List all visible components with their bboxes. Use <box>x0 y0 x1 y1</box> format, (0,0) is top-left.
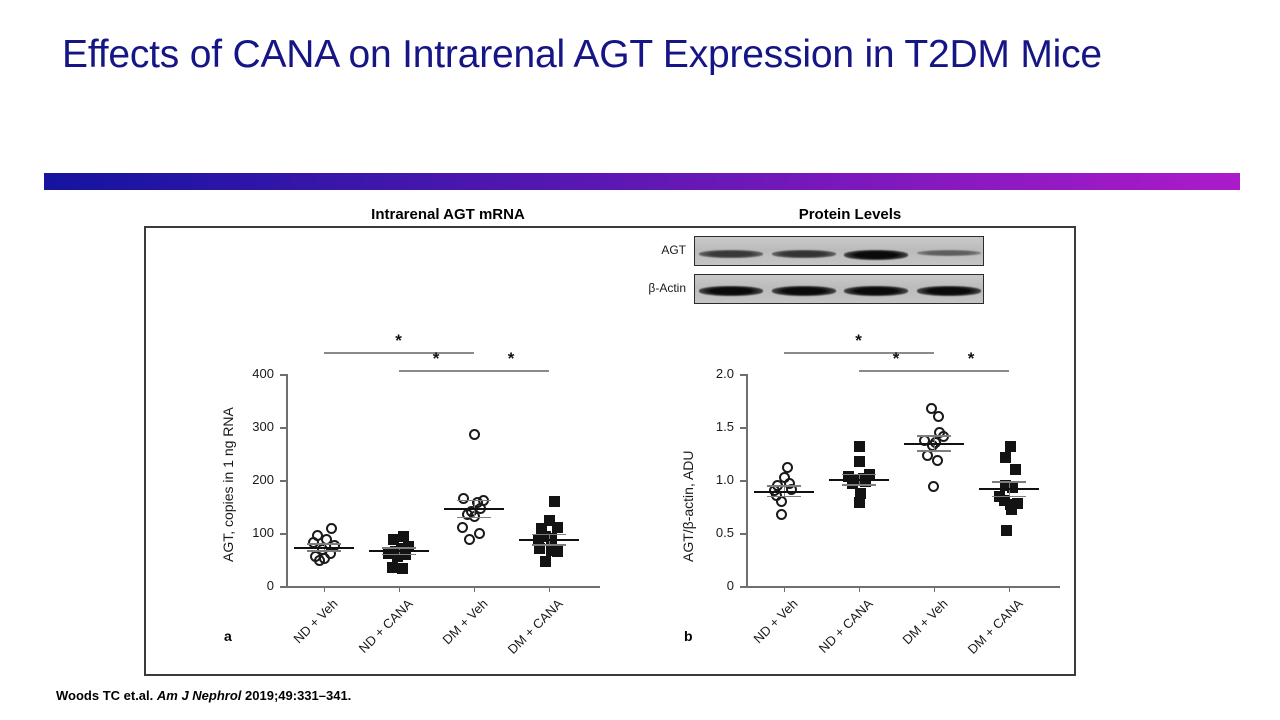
data-point <box>326 523 337 534</box>
data-point <box>314 555 325 566</box>
blot-band <box>699 250 763 258</box>
blot-row-beta-actin <box>694 274 984 304</box>
blot-label-agt: AGT <box>622 243 686 257</box>
accent-gradient-bar <box>44 173 1240 190</box>
x-axis-tick <box>1009 586 1011 592</box>
error-bar-cap <box>532 534 566 536</box>
y-axis-tick <box>280 586 286 588</box>
y-axis-tick <box>740 586 746 588</box>
data-point <box>464 534 475 545</box>
x-axis-tick-label: ND + CANA <box>801 596 875 670</box>
y-axis-tick <box>280 374 286 376</box>
mean-line <box>979 488 1039 490</box>
error-bar-cap <box>307 543 341 545</box>
blot-lane <box>768 237 841 265</box>
data-point <box>1001 525 1012 536</box>
blot-band <box>772 286 836 296</box>
blot-band <box>844 250 908 260</box>
western-blot-image: AGTβ-Actin <box>146 228 1078 348</box>
y-axis-line <box>746 374 748 586</box>
citation-journal: Am J Nephrol <box>157 688 242 703</box>
error-bar-cap <box>382 554 416 556</box>
y-axis-tick-label: 1.0 <box>694 472 734 487</box>
error-bar-cap <box>532 544 566 546</box>
y-axis-tick <box>740 533 746 535</box>
significance-star: * <box>501 354 521 364</box>
mean-line <box>829 479 889 481</box>
error-bar-cap <box>842 474 876 476</box>
mean-line <box>904 443 964 445</box>
blot-band <box>917 250 981 257</box>
blot-band <box>844 286 908 296</box>
blot-label-beta-actin: β-Actin <box>622 281 686 295</box>
y-axis-tick <box>280 480 286 482</box>
panel-letter-a: a <box>224 628 232 644</box>
x-axis-tick <box>549 586 551 592</box>
blot-lane <box>768 275 841 303</box>
significance-star: * <box>961 354 981 364</box>
data-point <box>782 462 793 473</box>
blot-band <box>917 286 981 296</box>
significance-bar <box>784 352 934 354</box>
significance-bar <box>399 370 474 372</box>
blot-lane <box>695 237 768 265</box>
y-axis-label: AGT, copies in 1 ng RNA <box>220 407 236 562</box>
data-point <box>540 556 551 567</box>
y-axis-tick <box>740 427 746 429</box>
blot-lane <box>913 275 985 303</box>
figure-panel-container: AGTβ-Actin 0100200300400AGT, copies in 1… <box>144 226 1076 676</box>
y-axis-tick-label: 400 <box>234 366 274 381</box>
y-axis-tick-label: 1.5 <box>694 419 734 434</box>
y-axis-tick <box>740 374 746 376</box>
blot-band <box>699 286 763 296</box>
y-axis-line <box>286 374 288 586</box>
mean-line <box>754 491 814 493</box>
blot-lane <box>840 237 913 265</box>
mean-line <box>444 508 504 510</box>
data-point <box>474 528 485 539</box>
x-axis-tick-label: DM + Veh <box>416 596 490 670</box>
significance-star: * <box>849 336 869 346</box>
error-bar-cap <box>767 496 801 498</box>
x-axis-tick-label: DM + Veh <box>876 596 950 670</box>
panel-letter-b: b <box>684 628 693 644</box>
error-bar-cap <box>382 547 416 549</box>
y-axis-tick <box>280 533 286 535</box>
significance-star: * <box>389 336 409 346</box>
error-bar-cap <box>917 450 951 452</box>
x-axis-tick-label: DM + CANA <box>491 596 565 670</box>
x-axis-tick-label: ND + Veh <box>266 596 340 670</box>
y-axis-label: AGT/β-actin, ADU <box>680 450 696 562</box>
citation: Woods TC et.al. Am J Nephrol 2019;49:331… <box>56 688 351 703</box>
error-bar-cap <box>767 485 801 487</box>
x-axis-tick-label: DM + CANA <box>951 596 1025 670</box>
data-point <box>552 522 563 533</box>
x-axis-line <box>286 586 600 588</box>
error-bar-cap <box>457 500 491 502</box>
y-axis-tick-label: 0.5 <box>694 525 734 540</box>
y-axis-tick <box>280 427 286 429</box>
significance-bar <box>934 370 1009 372</box>
data-point <box>552 546 563 557</box>
significance-bar <box>324 352 474 354</box>
significance-bar <box>474 370 549 372</box>
error-bar-cap <box>917 435 951 437</box>
error-bar-cap <box>842 484 876 486</box>
x-axis-tick <box>784 586 786 592</box>
significance-star: * <box>426 354 446 364</box>
error-bar-cap <box>457 517 491 519</box>
significance-star: * <box>886 354 906 364</box>
mean-line <box>294 547 354 549</box>
y-axis-tick-label: 300 <box>234 419 274 434</box>
error-bar-cap <box>992 481 1026 483</box>
x-axis-tick-label: ND + Veh <box>726 596 800 670</box>
data-point <box>854 497 865 508</box>
data-point <box>933 411 944 422</box>
data-point <box>397 563 408 574</box>
data-point <box>1006 504 1017 515</box>
figure-caption-mrna: Intrarenal AGT mRNA <box>258 206 638 223</box>
citation-authors: Woods TC et.al. <box>56 688 153 703</box>
x-axis-tick <box>934 586 936 592</box>
x-axis-tick <box>859 586 861 592</box>
blot-lane <box>913 237 985 265</box>
blot-row-agt <box>694 236 984 266</box>
blot-lane <box>695 275 768 303</box>
y-axis-tick-label: 0 <box>234 578 274 593</box>
blot-band <box>772 250 836 258</box>
data-point <box>1010 464 1021 475</box>
figure-caption-protein: Protein Levels <box>680 206 1020 223</box>
x-axis-tick <box>324 586 326 592</box>
y-axis-tick-label: 2.0 <box>694 366 734 381</box>
page-title: Effects of CANA on Intrarenal AGT Expres… <box>62 32 1162 78</box>
y-axis-tick <box>740 480 746 482</box>
blot-lane <box>840 275 913 303</box>
error-bar-cap <box>307 550 341 552</box>
data-point <box>457 522 468 533</box>
y-axis-tick-label: 100 <box>234 525 274 540</box>
y-axis-tick-label: 200 <box>234 472 274 487</box>
data-point <box>854 456 865 467</box>
x-axis-tick-label: ND + CANA <box>341 596 415 670</box>
significance-bar <box>859 370 934 372</box>
data-point <box>458 493 469 504</box>
x-axis-tick <box>399 586 401 592</box>
mean-line <box>519 539 579 541</box>
data-point <box>469 429 480 440</box>
data-point <box>549 496 560 507</box>
y-axis-tick-label: 0 <box>694 578 734 593</box>
scatter-plot-mrna: 0100200300400AGT, copies in 1 ng RNAND +… <box>286 374 586 586</box>
scatter-plot-protein: 00.51.01.52.0AGT/β-actin, ADUND + VehND … <box>746 374 1046 586</box>
citation-details: 2019;49:331–341. <box>245 688 351 703</box>
data-point <box>932 455 943 466</box>
data-point <box>928 481 939 492</box>
error-bar-cap <box>992 496 1026 498</box>
data-point <box>1000 452 1011 463</box>
data-point <box>776 509 787 520</box>
x-axis-tick <box>474 586 476 592</box>
data-point <box>854 441 865 452</box>
mean-line <box>369 550 429 552</box>
x-axis-line <box>746 586 1060 588</box>
data-point <box>1005 441 1016 452</box>
